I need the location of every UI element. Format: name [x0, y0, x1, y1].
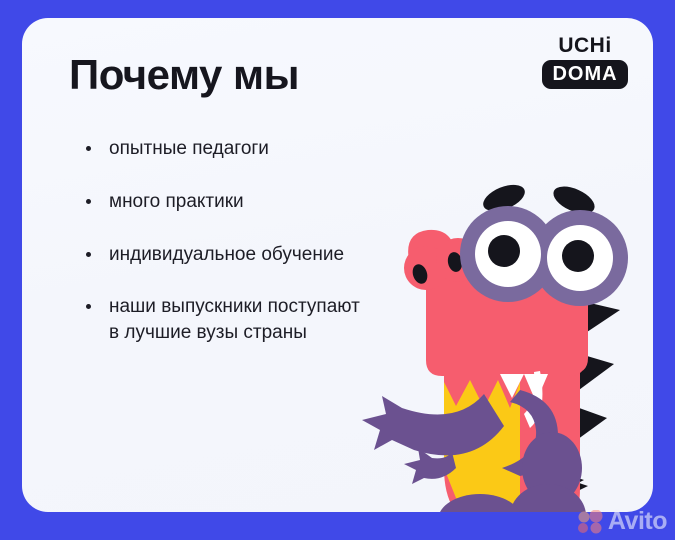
- uchi-doma-logo: UCHi DOMA: [539, 35, 631, 89]
- avito-dots-icon: [578, 510, 604, 534]
- bullet-dot-icon: [86, 252, 91, 257]
- bullet-dot-icon: [86, 199, 91, 204]
- list-item-label: опытные педагоги: [109, 138, 269, 159]
- bullet-dot-icon: [86, 304, 91, 309]
- bullet-dot-icon: [86, 146, 91, 151]
- avito-watermark: Avito: [578, 509, 667, 534]
- logo-pill-doma: DOMA: [542, 60, 627, 89]
- logo-word-uchi: UCHi: [539, 35, 631, 56]
- page-title: Почему мы: [69, 51, 299, 99]
- list-item: индивидуальное обучение: [82, 242, 362, 268]
- list-item: много практики: [82, 189, 362, 215]
- dinosaur-mascot-illustration: [352, 168, 653, 512]
- poster-root: UCHi DOMA Почему мы опытные педагоги мно…: [0, 0, 675, 540]
- list-item: наши выпускники поступают в лучшие вузы …: [82, 294, 362, 346]
- list-item-label: индивидуальное обучение: [109, 244, 344, 265]
- benefits-list: опытные педагоги много практики индивиду…: [82, 136, 362, 346]
- content-card: UCHi DOMA Почему мы опытные педагоги мно…: [22, 18, 653, 512]
- list-item-label: много практики: [109, 191, 244, 212]
- list-item: опытные педагоги: [82, 136, 362, 162]
- avito-watermark-text: Avito: [608, 509, 667, 534]
- list-item-label: наши выпускники поступают в лучшие вузы …: [109, 296, 360, 343]
